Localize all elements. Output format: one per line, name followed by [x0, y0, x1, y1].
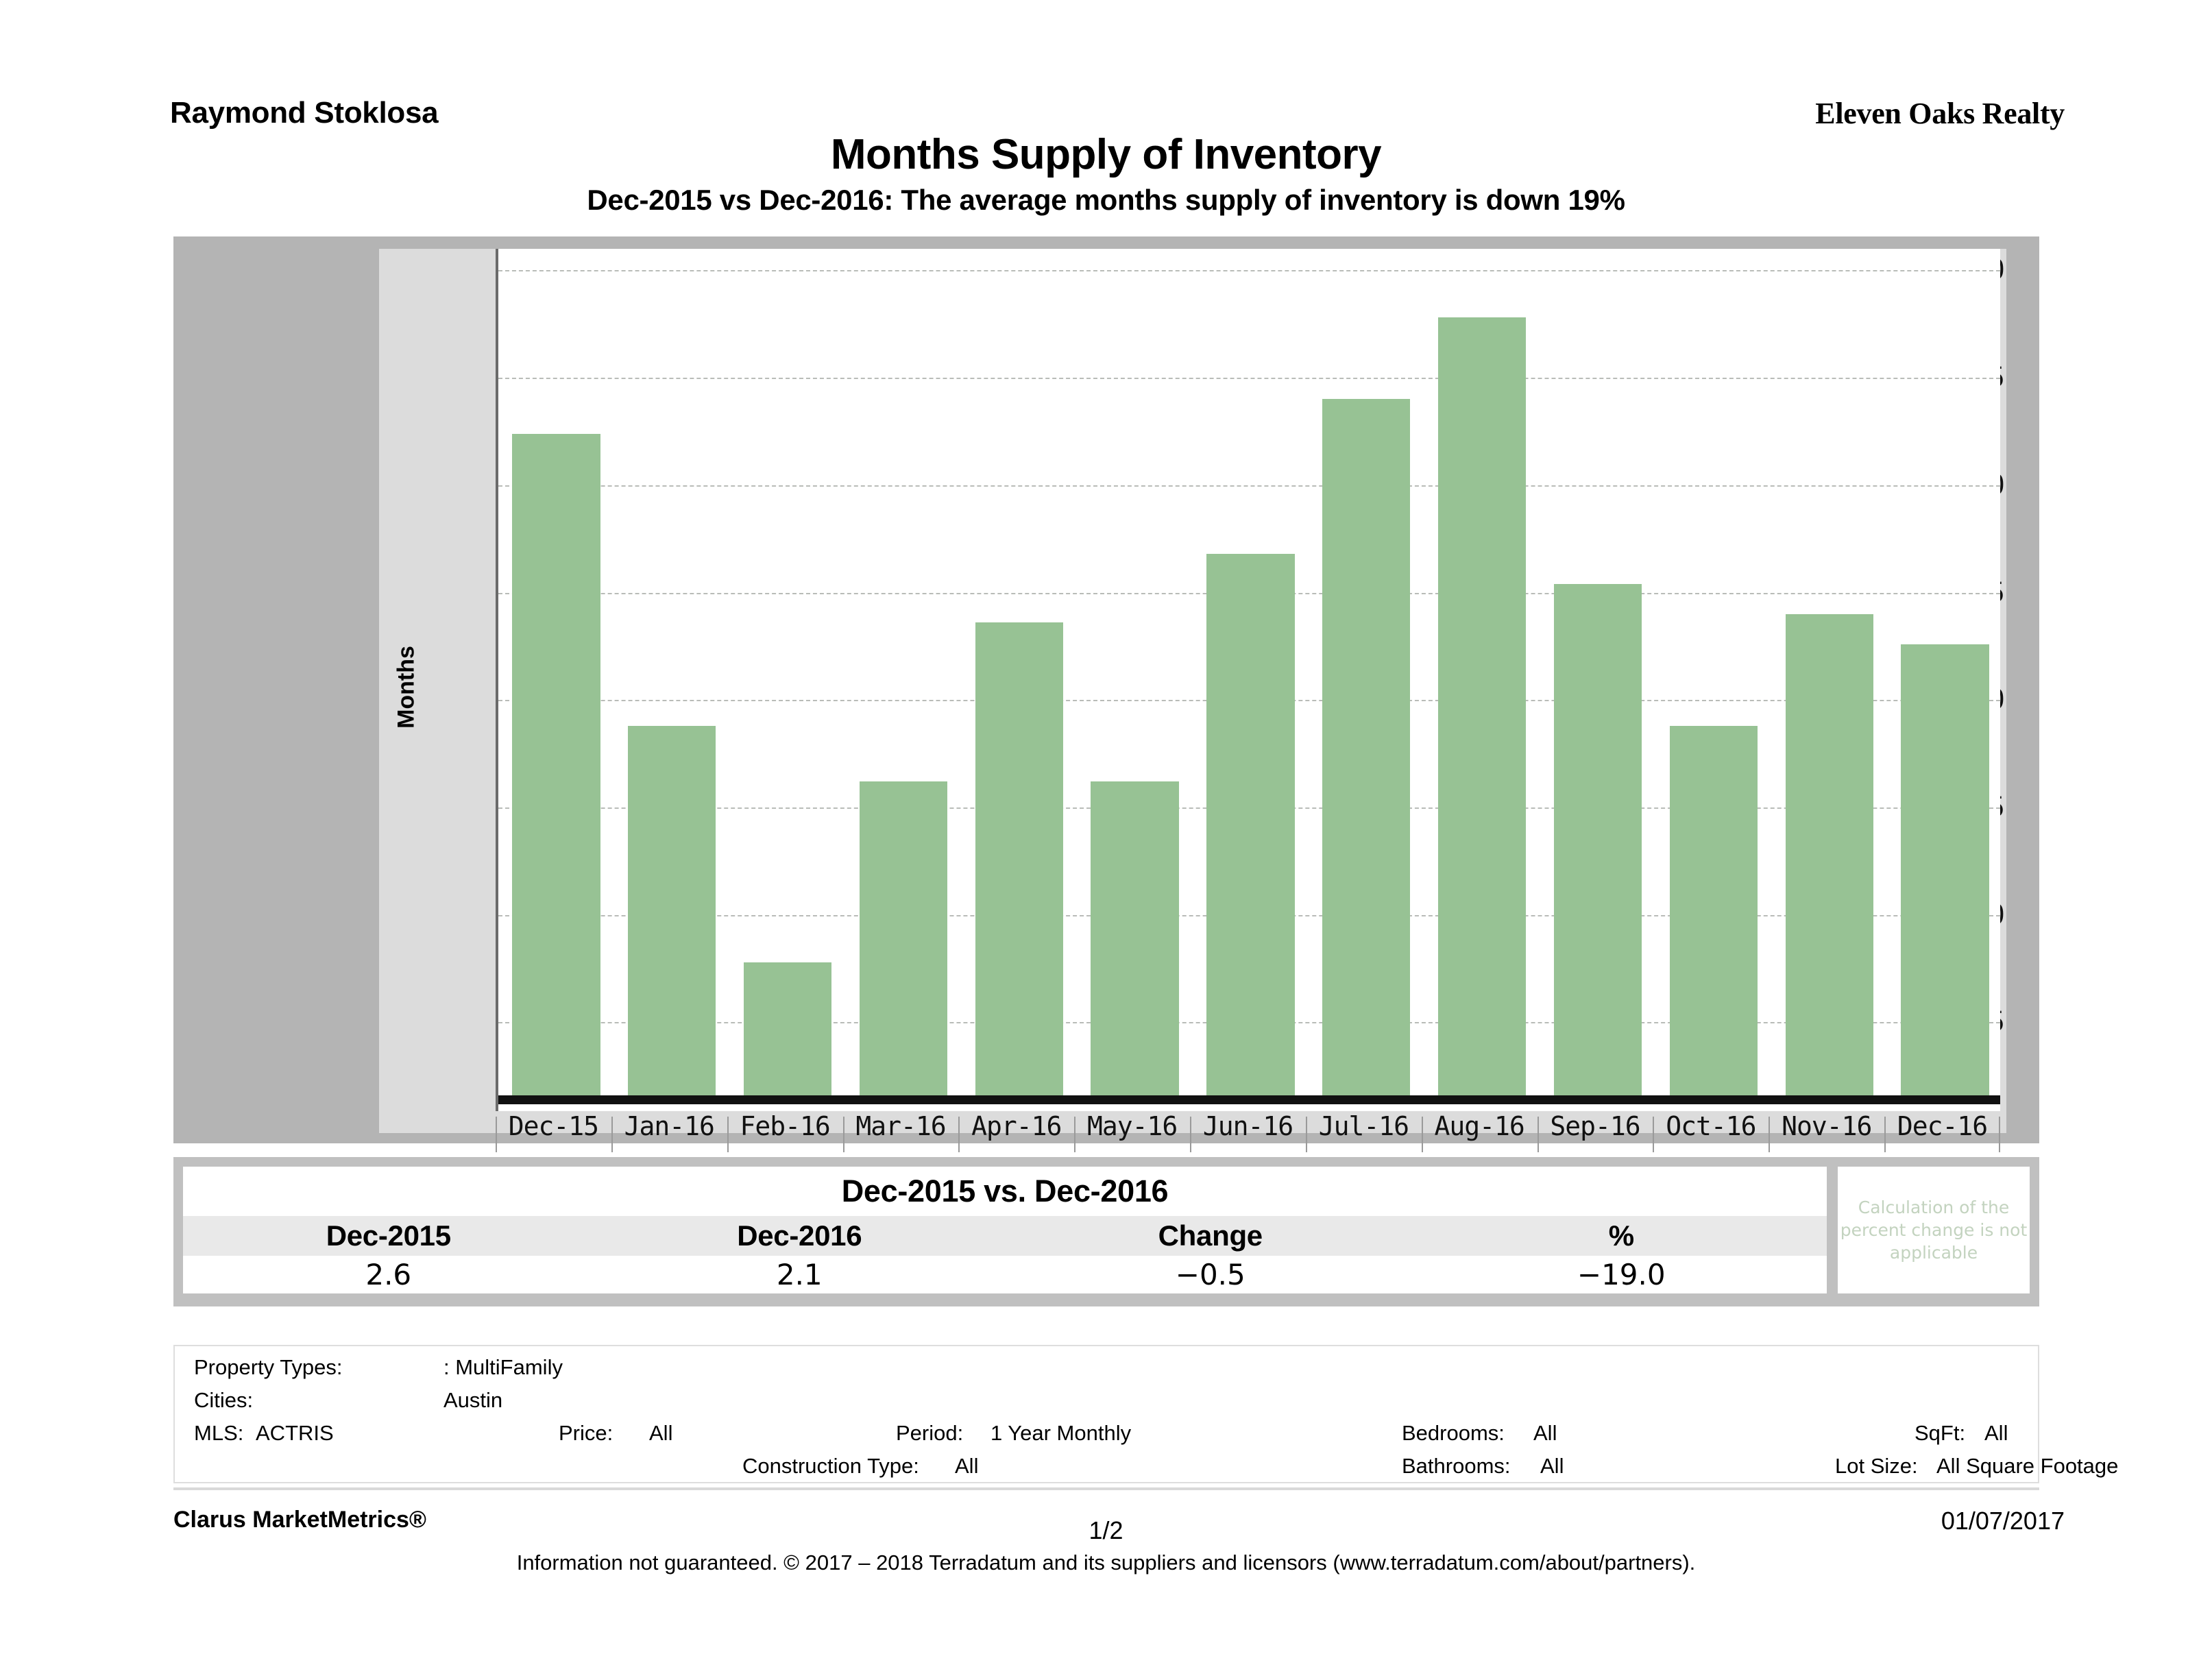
bar-oct-16[interactable]: [1670, 726, 1758, 1095]
x-axis-tick-label: Sep-16: [1538, 1111, 1653, 1141]
comparison-value: 2.6: [183, 1256, 594, 1293]
percent-change-note-box: Calculation of the percent change is not…: [1838, 1167, 2030, 1293]
agent-name: Raymond Stoklosa: [170, 96, 438, 130]
x-axis-label-separator: [1422, 1117, 1423, 1152]
period-label: Period:: [896, 1418, 963, 1449]
bar-jul-16[interactable]: [1322, 399, 1410, 1095]
lot-size-value: All Square Footage: [1936, 1450, 2118, 1482]
comparison-table-heading: Dec-2015 vs. Dec-2016: [183, 1167, 1827, 1216]
construction-type-label: Construction Type:: [742, 1450, 919, 1482]
bar-sep-16[interactable]: [1554, 584, 1642, 1095]
x-axis-tick-label: Jan-16: [611, 1111, 727, 1141]
bar-aug-16[interactable]: [1438, 317, 1526, 1095]
price-value: All: [649, 1418, 672, 1449]
comparison-table-header-row: Dec-2015Dec-2016Change%: [183, 1216, 1827, 1256]
x-axis-tick-label: Oct-16: [1653, 1111, 1769, 1141]
cities-label: Cities:: [194, 1385, 253, 1416]
x-axis-label-separator: [611, 1117, 613, 1152]
bars-layer: [498, 249, 2000, 1095]
x-axis-tick-labels: Dec-15Jan-16Feb-16Mar-16Apr-16May-16Jun-…: [496, 1111, 2000, 1159]
x-axis-label-separator: [1653, 1117, 1654, 1152]
x-axis-tick-label: Dec-15: [496, 1111, 611, 1141]
sqft-label: SqFt:: [1915, 1418, 1965, 1449]
bedrooms-label: Bedrooms:: [1402, 1418, 1505, 1449]
bar-dec-15[interactable]: [512, 434, 600, 1095]
bathrooms-label: Bathrooms:: [1402, 1450, 1511, 1482]
plot-frame: [496, 249, 2000, 1111]
bar-may-16[interactable]: [1091, 781, 1178, 1095]
x-axis-tick-label: May-16: [1074, 1111, 1190, 1141]
comparison-column-header: %: [1416, 1216, 1827, 1256]
bar-nov-16[interactable]: [1786, 614, 1873, 1095]
construction-type-value: All: [955, 1450, 978, 1482]
comparison-column-header: Dec-2015: [183, 1216, 594, 1256]
x-axis-label-separator: [1999, 1117, 2000, 1152]
x-axis-line: [498, 1095, 2000, 1104]
comparison-value: −0.5: [1005, 1256, 1416, 1293]
price-label: Price:: [559, 1418, 613, 1449]
footer-divider: [173, 1487, 2039, 1490]
lot-size-label: Lot Size:: [1835, 1450, 1918, 1482]
disclaimer-text: Information not guaranteed. © 2017 – 201…: [0, 1551, 2212, 1575]
x-axis-tick-label: Jul-16: [1306, 1111, 1422, 1141]
report-date: 01/07/2017: [1941, 1507, 2065, 1535]
property-types-label: Property Types:: [194, 1352, 343, 1383]
brokerage-name: Eleven Oaks Realty: [1815, 96, 2065, 131]
x-axis-tick-label: Mar-16: [843, 1111, 959, 1141]
x-axis-label-separator: [1769, 1117, 1770, 1152]
page-title: Months Supply of Inventory: [0, 130, 2212, 179]
comparison-value: 2.1: [594, 1256, 1006, 1293]
x-axis-label-separator: [496, 1117, 497, 1152]
x-axis-tick-label: Feb-16: [727, 1111, 843, 1141]
x-axis-tick-label: Nov-16: [1769, 1111, 1884, 1141]
page-subtitle: Dec-2015 vs Dec-2016: The average months…: [0, 184, 2212, 217]
x-axis-label-separator: [727, 1117, 729, 1152]
comparison-table: Dec-2015 vs. Dec-2016 Dec-2015Dec-2016Ch…: [183, 1167, 1827, 1293]
bedrooms-value: All: [1533, 1418, 1557, 1449]
cities-value: Austin: [443, 1385, 502, 1416]
percent-change-note: Calculation of the percent change is not…: [1838, 1196, 2030, 1264]
sqft-value: All: [1984, 1418, 2008, 1449]
criteria-row-3: MLS: ACTRIS Price: All Period: 1 Year Mo…: [175, 1418, 2038, 1449]
comparison-table-value-row: 2.62.1−0.5−19.0: [183, 1256, 1827, 1293]
y-axis-title: Months: [393, 646, 420, 729]
search-criteria-panel: Property Types: : MultiFamily Cities: Au…: [173, 1345, 2039, 1483]
comparison-column-header: Change: [1005, 1216, 1416, 1256]
x-axis-tick-label: Aug-16: [1422, 1111, 1538, 1141]
x-axis-label-separator: [1538, 1117, 1539, 1152]
x-axis-label-separator: [1884, 1117, 1886, 1152]
chart-inner-panel: Months 1.251.501.752.002.252.502.753.00 …: [379, 249, 2006, 1133]
mls-label: MLS:: [194, 1418, 243, 1449]
x-axis-tick-label: Jun-16: [1190, 1111, 1306, 1141]
x-axis-label-separator: [843, 1117, 844, 1152]
bar-jan-16[interactable]: [628, 726, 716, 1095]
bathrooms-value: All: [1540, 1450, 1564, 1482]
plot-area: [498, 249, 2000, 1095]
x-axis-label-separator: [1306, 1117, 1307, 1152]
page-number: 1/2: [0, 1516, 2212, 1545]
x-axis-label-separator: [958, 1117, 960, 1152]
chart-panel: Months 1.251.501.752.002.252.502.753.00 …: [173, 236, 2039, 1143]
criteria-row-4: Construction Type: All Bathrooms: All Lo…: [175, 1450, 2038, 1482]
bar-apr-16[interactable]: [975, 622, 1063, 1095]
x-axis-tick-label: Dec-16: [1884, 1111, 2000, 1141]
period-value: 1 Year Monthly: [990, 1418, 1131, 1449]
mls-value: ACTRIS: [256, 1418, 334, 1449]
x-axis-tick-label: Apr-16: [958, 1111, 1074, 1141]
criteria-row-cities: Cities: Austin: [175, 1385, 2038, 1416]
x-axis-label-separator: [1074, 1117, 1075, 1152]
bar-jun-16[interactable]: [1206, 554, 1294, 1095]
bar-dec-16[interactable]: [1901, 644, 1989, 1095]
summary-panel: Dec-2015 vs. Dec-2016 Dec-2015Dec-2016Ch…: [173, 1157, 2039, 1306]
comparison-value: −19.0: [1416, 1256, 1827, 1293]
bar-mar-16[interactable]: [860, 781, 947, 1095]
property-types-value: : MultiFamily: [443, 1352, 563, 1383]
x-axis-label-separator: [1190, 1117, 1191, 1152]
criteria-row-property-types: Property Types: : MultiFamily: [175, 1352, 2038, 1383]
comparison-column-header: Dec-2016: [594, 1216, 1006, 1256]
bar-feb-16[interactable]: [744, 962, 831, 1095]
